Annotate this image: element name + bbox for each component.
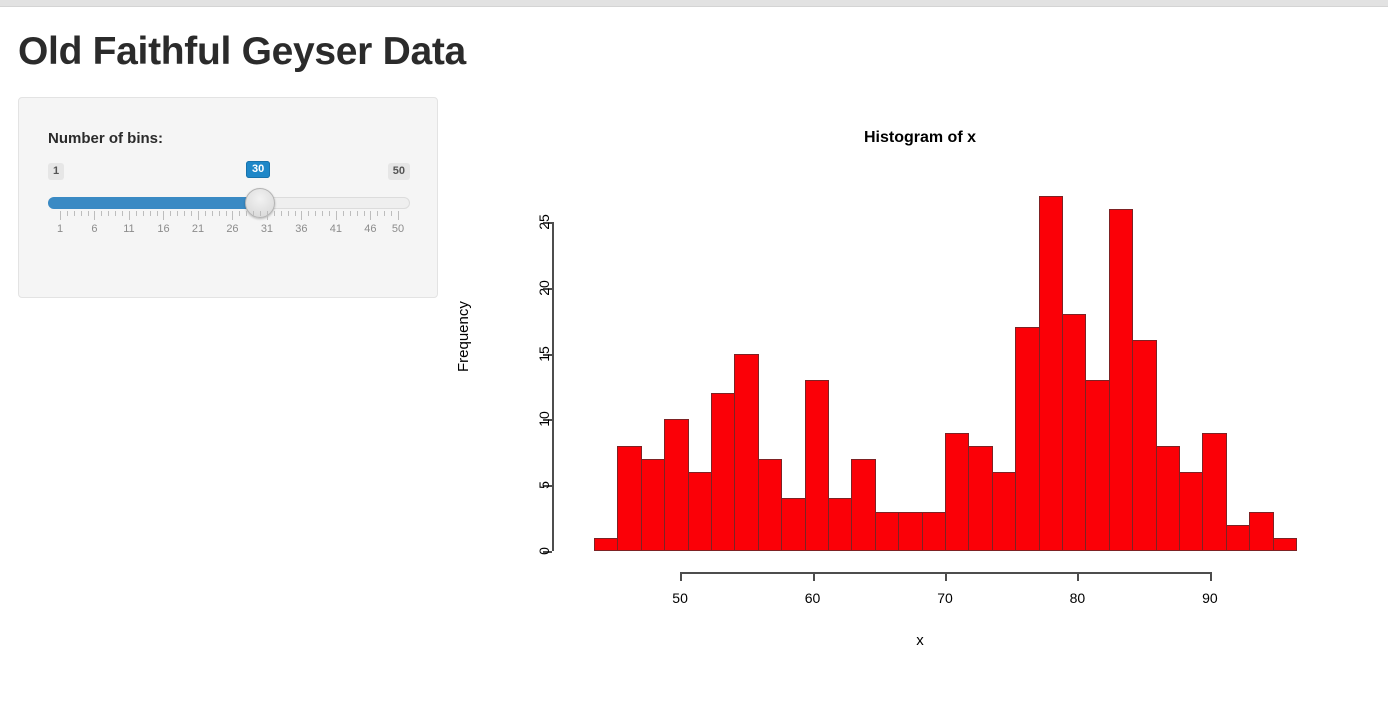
slider-tick-minor (101, 211, 102, 216)
slider-scale-label: 16 (157, 223, 169, 235)
slider-tick-minor (281, 211, 282, 216)
slider-tick-minor (88, 211, 89, 216)
slider-tick-minor (122, 211, 123, 216)
slider-tick-minor (239, 211, 240, 216)
slider-tick-major (370, 211, 371, 220)
slider-tick-minor (191, 211, 192, 216)
histogram-bar (805, 380, 829, 551)
histogram-bar (1062, 314, 1086, 551)
slider-tick-minor (108, 211, 109, 216)
histogram-bar (1179, 472, 1203, 551)
slider-tick-minor (115, 211, 116, 216)
x-axis-tick (680, 572, 682, 581)
histogram-bar (851, 459, 875, 551)
histogram-bar (1085, 380, 1109, 551)
slider-tick-major (301, 211, 302, 220)
histogram-bar (1156, 446, 1180, 551)
slider-tick-minor (288, 211, 289, 216)
y-axis-tick-label: 20 (536, 280, 552, 296)
histogram-bar (1249, 512, 1273, 551)
histogram-bar (898, 512, 922, 551)
slider-scale-label: 6 (91, 223, 97, 235)
slider-scale-label: 36 (295, 223, 307, 235)
slider-tick-minor (329, 211, 330, 216)
slider-tick-minor (384, 211, 385, 216)
slider-tick-minor (177, 211, 178, 216)
slider-tick-minor (143, 211, 144, 216)
histogram-bar (1109, 209, 1133, 551)
x-axis-label: x (460, 632, 1380, 649)
histogram-bar (781, 498, 805, 551)
slider-tick-minor (295, 211, 296, 216)
histogram-bar (594, 538, 618, 551)
slider-scale-label: 50 (392, 223, 404, 235)
slider-tick-minor (322, 211, 323, 216)
slider-tick-major (336, 211, 337, 220)
slider-tick-minor (150, 211, 151, 216)
slider-scale-label: 21 (192, 223, 204, 235)
slider-tick-minor (274, 211, 275, 216)
slider-tick-minor (212, 211, 213, 216)
histogram-bar (1039, 196, 1063, 551)
slider-tick-minor (315, 211, 316, 216)
slider-tick-minor (308, 211, 309, 216)
plot-area: Frequency x 05101520255060708090 (460, 110, 1380, 670)
y-axis-label: Frequency (455, 301, 472, 372)
app-root: Old Faithful Geyser Data Number of bins:… (0, 0, 1388, 707)
histogram-bar (828, 498, 852, 551)
x-axis-tick (1210, 572, 1212, 581)
slider-tick-minor (246, 211, 247, 216)
x-axis-tick-label: 90 (1202, 590, 1218, 606)
histogram-bar (734, 354, 758, 551)
histogram-bar (758, 459, 782, 551)
slider-tick-major (163, 211, 164, 220)
y-axis-tick-label: 25 (536, 214, 552, 230)
slider-max-label: 50 (388, 163, 410, 180)
slider-tick-major (60, 211, 61, 220)
slider-scale-label: 41 (330, 223, 342, 235)
slider-scale-label: 31 (261, 223, 273, 235)
slider-scale-label: 26 (226, 223, 238, 235)
y-axis-tick-label: 5 (536, 481, 552, 489)
x-axis-tick-label: 70 (937, 590, 953, 606)
slider-tick-minor (357, 211, 358, 216)
histogram-bar (1132, 340, 1156, 551)
y-axis-tick-label: 0 (536, 547, 552, 555)
x-axis-tick-label: 60 (805, 590, 821, 606)
slider-scale-label: 46 (364, 223, 376, 235)
slider-tick-minor (343, 211, 344, 216)
histogram-bar (992, 472, 1016, 551)
x-axis-tick (945, 572, 947, 581)
slider-tick-major (94, 211, 95, 220)
sidebar-panel: Number of bins: 1 50 30 1611162126313641… (18, 97, 438, 298)
x-axis-tick-label: 80 (1070, 590, 1086, 606)
slider-scale-label: 1 (57, 223, 63, 235)
page-title: Old Faithful Geyser Data (18, 30, 466, 74)
slider-tick-minor (205, 211, 206, 216)
slider-tick-minor (350, 211, 351, 216)
slider-tick-major (398, 211, 399, 220)
slider-fill (48, 197, 260, 209)
slider-value-bubble: 30 (246, 161, 270, 178)
slider-min-label: 1 (48, 163, 64, 180)
y-axis-tick-label: 10 (536, 412, 552, 428)
slider-tick-minor (74, 211, 75, 216)
histogram-bar (688, 472, 712, 551)
y-axis-line (552, 222, 554, 551)
histogram-bar (641, 459, 665, 551)
histogram-bar (968, 446, 992, 551)
bins-slider[interactable]: 1 50 30 16111621263136414650 (48, 161, 410, 251)
slider-tick-major (198, 211, 199, 220)
slider-scale-row: 16111621263136414650 (48, 223, 410, 239)
histogram-bar (664, 419, 688, 551)
histogram-bar (945, 433, 969, 551)
x-axis-tick (813, 572, 815, 581)
histogram-bar (922, 512, 946, 551)
y-axis-tick-label: 15 (536, 346, 552, 362)
histogram-plot: Histogram of x Frequency x 0510152025506… (460, 110, 1380, 670)
x-axis-tick (1077, 572, 1079, 581)
slider-tick-row (48, 211, 410, 221)
histogram-bar (1226, 525, 1250, 551)
histogram-bar (1273, 538, 1297, 551)
slider-tick-minor (377, 211, 378, 216)
x-axis-tick-label: 50 (672, 590, 688, 606)
slider-tick-minor (81, 211, 82, 216)
slider-tick-minor (253, 211, 254, 216)
slider-tick-minor (226, 211, 227, 216)
slider-tick-minor (260, 211, 261, 216)
slider-tick-minor (219, 211, 220, 216)
slider-tick-minor (170, 211, 171, 216)
window-top-strip (0, 0, 1388, 7)
slider-tick-major (129, 211, 130, 220)
histogram-bar (617, 446, 641, 551)
histogram-bar (1015, 327, 1039, 551)
slider-tick-minor (364, 211, 365, 216)
slider-tick-minor (67, 211, 68, 216)
histogram-bar (875, 512, 899, 551)
slider-tick-minor (136, 211, 137, 216)
slider-tick-major (267, 211, 268, 220)
slider-tick-minor (391, 211, 392, 216)
histogram-bar (711, 393, 735, 551)
slider-tick-minor (157, 211, 158, 216)
slider-scale-label: 11 (123, 223, 134, 235)
slider-label: Number of bins: (48, 130, 163, 147)
histogram-bar (1202, 433, 1226, 551)
slider-tick-minor (184, 211, 185, 216)
slider-tick-major (232, 211, 233, 220)
